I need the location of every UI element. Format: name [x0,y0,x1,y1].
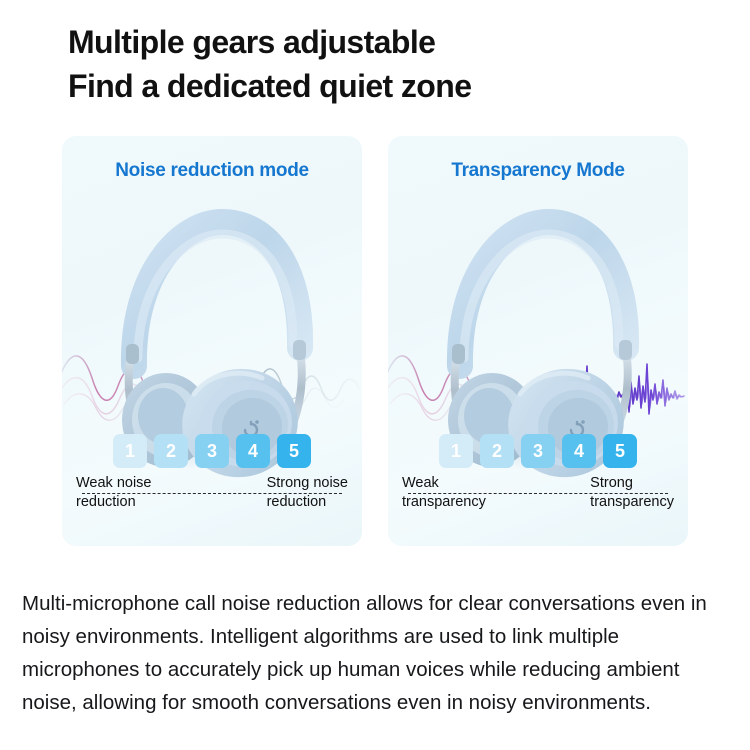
level-box-4[interactable]: 4 [236,434,270,468]
caption-strong-transparency: Strong transparency [590,474,674,512]
headline-line-2: Find a dedicated quiet zone [68,64,708,108]
headline-line-1: Multiple gears adjustable [68,20,708,64]
card-transparency: Transparency Mode [388,136,688,546]
caption-weak-noise-reduction: Weak noise reduction [76,474,152,512]
card-title-noise-reduction: Noise reduction mode [62,160,362,182]
level-scale-noise-reduction: 1 2 3 4 5 [62,434,362,468]
level-box-5[interactable]: 5 [603,434,637,468]
level-captions-noise-reduction: Weak noise reduction Strong noise reduct… [74,474,350,524]
level-box-1[interactable]: 1 [113,434,147,468]
description-paragraph: Multi-microphone call noise reduction al… [22,587,734,719]
card-title-transparency: Transparency Mode [388,160,688,182]
level-box-4[interactable]: 4 [562,434,596,468]
caption-weak-transparency: Weak transparency [402,474,486,512]
level-box-5[interactable]: 5 [277,434,311,468]
level-box-3[interactable]: 3 [521,434,555,468]
level-scale-transparency: 1 2 3 4 5 [388,434,688,468]
level-box-2[interactable]: 2 [154,434,188,468]
caption-strong-noise-reduction: Strong noise reduction [267,474,348,512]
level-box-2[interactable]: 2 [480,434,514,468]
level-captions-transparency: Weak transparency Strong transparency [400,474,676,524]
level-box-3[interactable]: 3 [195,434,229,468]
level-box-1[interactable]: 1 [439,434,473,468]
card-noise-reduction: Noise reduction mode [62,136,362,546]
mode-cards-row: Noise reduction mode [62,136,688,546]
page-title: Multiple gears adjustable Find a dedicat… [68,20,708,108]
